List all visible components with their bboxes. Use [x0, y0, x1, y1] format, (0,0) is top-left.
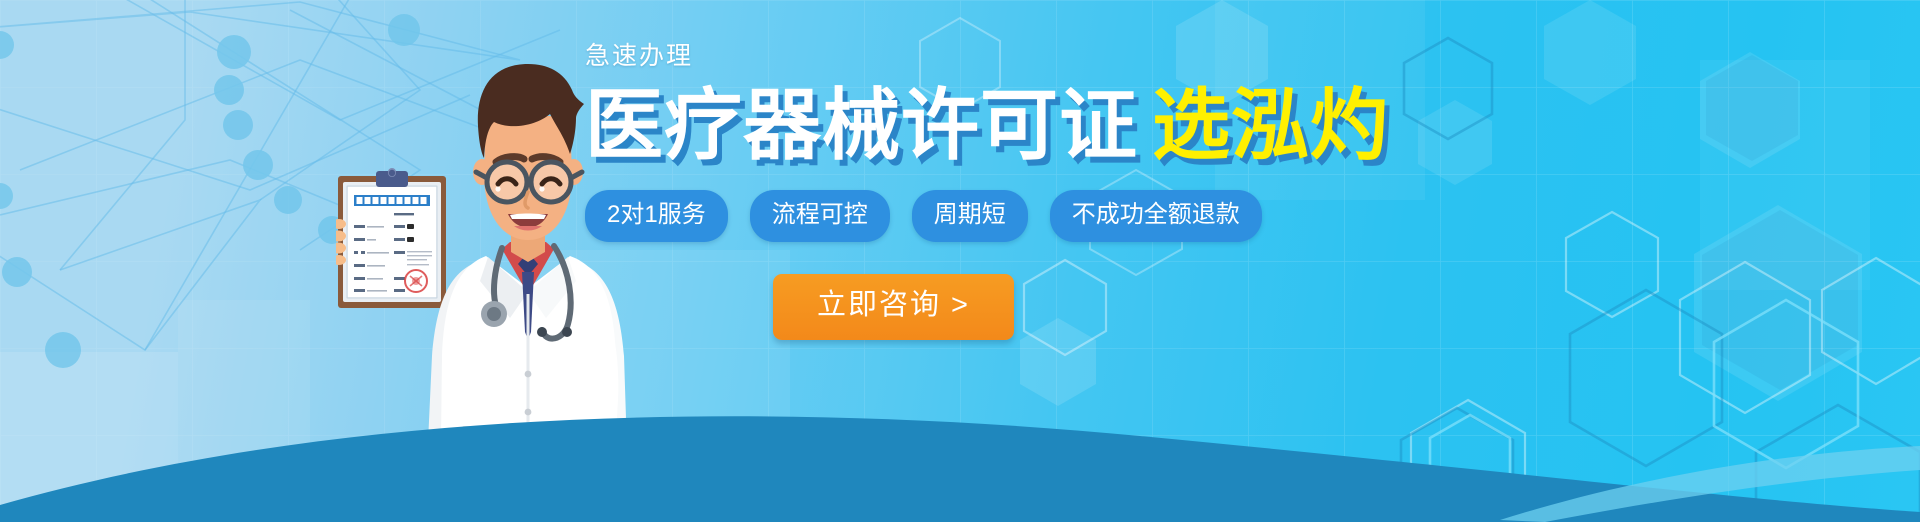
- feature-pill[interactable]: 流程可控: [750, 190, 890, 242]
- page-title: 医疗器械许可证选泓灼: [585, 86, 1325, 164]
- promo-banner: 急速办理 医疗器械许可证选泓灼 2对1服务 流程可控 周期短 不成功全额退款 立…: [0, 0, 1920, 522]
- banner-copy: 急速办理 医疗器械许可证选泓灼 2对1服务 流程可控 周期短 不成功全额退款 立…: [585, 44, 1325, 340]
- feature-pill[interactable]: 周期短: [912, 190, 1028, 242]
- headline-main: 医疗器械许可证: [585, 81, 1138, 169]
- headline-accent: 选泓灼: [1152, 81, 1389, 169]
- cta-container: 立即咨询 >: [773, 274, 1325, 340]
- feature-pill[interactable]: 不成功全额退款: [1050, 190, 1262, 242]
- consult-now-button[interactable]: 立即咨询 >: [773, 274, 1014, 340]
- eyebrow-text: 急速办理: [585, 44, 1325, 69]
- feature-pill-list: 2对1服务 流程可控 周期短 不成功全额退款: [585, 190, 1325, 242]
- feature-pill[interactable]: 2对1服务: [585, 190, 728, 242]
